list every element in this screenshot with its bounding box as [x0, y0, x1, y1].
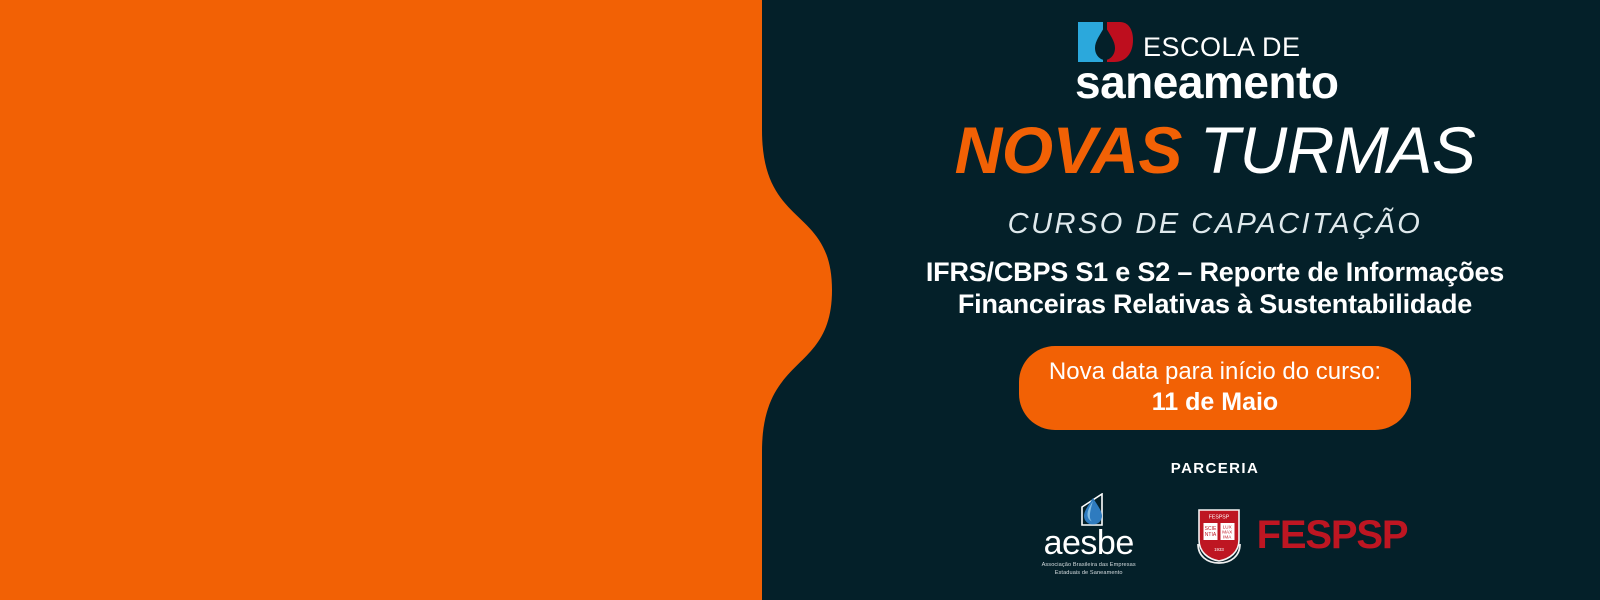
escola-de-saneamento-logo: ESCOLA DE saneamento [1076, 16, 1354, 103]
headline: NOVAS TURMAS [955, 117, 1476, 183]
aesbe-logo[interactable]: aesbe Associação Brasileira das Empresas… [1023, 493, 1155, 578]
fespsp-wordmark: FESPSP [1257, 515, 1408, 555]
course-title: IFRS/CBPS S1 e S2 – Reporte de Informaçõ… [835, 257, 1595, 320]
orange-wave-panel [0, 0, 900, 600]
eyebrow-curso-de-capacitacao: CURSO DE CAPACITAÇÃO [1008, 208, 1423, 241]
headline-turmas: TURMAS [1200, 113, 1476, 187]
logo-text-saneamento: saneamento [1075, 61, 1338, 103]
svg-text:NTIA: NTIA [1204, 532, 1216, 538]
aesbe-tagline: Associação Brasileira das Empresas Estad… [1034, 561, 1144, 577]
aesbe-wordmark: aesbe [1044, 528, 1134, 559]
course-title-line-1: IFRS/CBPS S1 e S2 – Reporte de Informaçõ… [835, 257, 1595, 289]
cta-date: 11 de Maio [1039, 387, 1391, 417]
shield-crest-book-icon: FESPSP SCIE NTIA LUX MAX IMA 1933 [1191, 504, 1247, 566]
svg-text:FESPSP: FESPSP [1208, 515, 1229, 521]
course-start-date-button[interactable]: Nova data para início do curso: 11 de Ma… [1019, 346, 1411, 429]
promotional-banner: ESCOLA DE saneamento NOVAS TURMAS CURSO … [0, 0, 1600, 600]
partner-logos: aesbe Associação Brasileira das Empresas… [1023, 493, 1408, 578]
aesbe-tagline-line-1: Associação Brasileira das Empresas [1042, 562, 1136, 568]
course-title-line-2: Financeiras Relativas à Sustentabilidade [835, 289, 1595, 321]
water-droplet-icon [1069, 493, 1115, 527]
fespsp-logo[interactable]: FESPSP SCIE NTIA LUX MAX IMA 1933 FESPSP [1191, 504, 1408, 566]
svg-text:1933: 1933 [1214, 547, 1224, 552]
partnership-label: PARCERIA [1171, 460, 1259, 477]
cta-label: Nova data para início do curso: [1039, 357, 1391, 386]
aesbe-tagline-line-2: Estaduais de Saneamento [1055, 570, 1123, 576]
svg-text:IMA: IMA [1223, 535, 1232, 540]
headline-novas: NOVAS [955, 113, 1182, 187]
content-column: ESCOLA DE saneamento NOVAS TURMAS CURSO … [830, 0, 1600, 600]
